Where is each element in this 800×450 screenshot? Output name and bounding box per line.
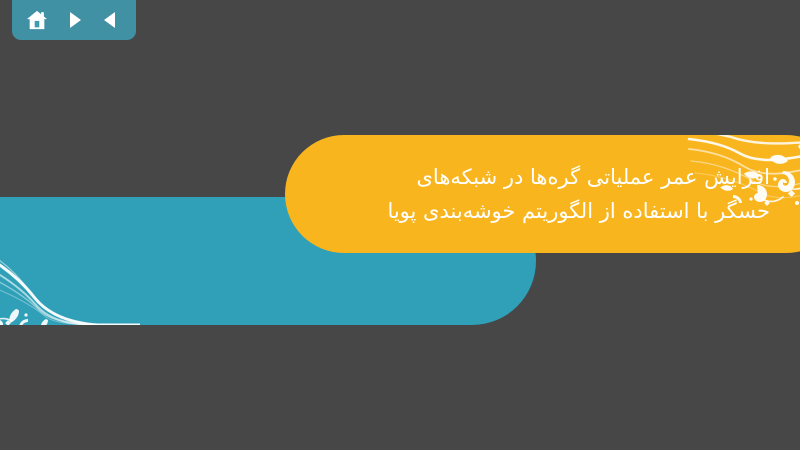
- teal-arabesque-ornament-icon: [0, 197, 140, 325]
- orange-banner: [285, 135, 800, 253]
- forward-icon: [64, 10, 84, 30]
- home-icon: [26, 9, 48, 31]
- back-button[interactable]: [96, 5, 126, 35]
- slide-canvas: افزایش عمر عملیاتی گره‌ها در شبکه‌های حس…: [0, 0, 800, 450]
- forward-button[interactable]: [59, 5, 89, 35]
- orange-arabesque-ornament-icon: [615, 135, 800, 253]
- navigation-bar: [12, 0, 136, 40]
- back-icon: [101, 10, 121, 30]
- home-button[interactable]: [22, 5, 52, 35]
